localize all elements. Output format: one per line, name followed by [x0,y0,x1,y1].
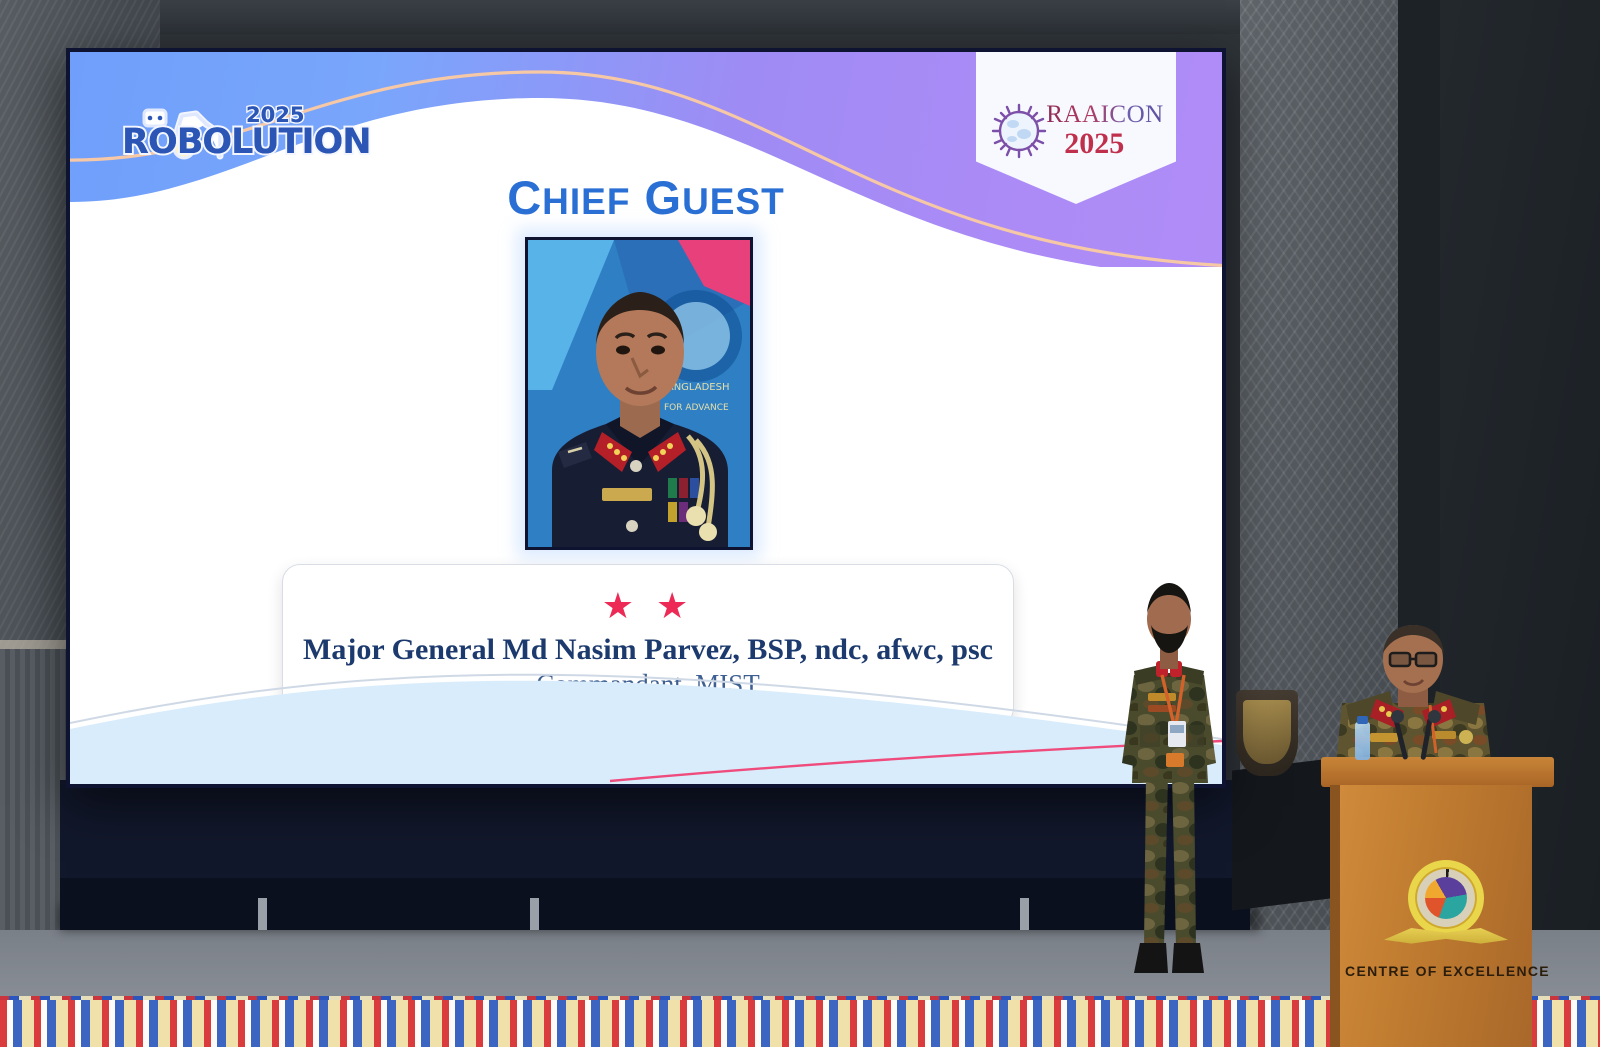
robolution-wordmark: ROBOLUTION [122,122,371,162]
raaicon-year: 2025 [1064,127,1124,160]
officer-photo-illustration: BANGLADESH FOR ADVANCE [528,240,750,547]
svg-text:FOR ADVANCE: FOR ADVANCE [664,403,729,413]
stage-skirt-lower [60,878,1250,930]
robolution-logo: ROBOLUTION ROBOLUTION 2025 2025 [122,100,312,168]
presentation-stage-photo: ROBOLUTION ROBOLUTION 2025 2025 [0,0,1600,1047]
podium-label: CENTRE OF EXCELLENCE [1340,963,1555,979]
water-bottle-cap [1357,716,1368,724]
microphone-right-head [1428,710,1441,723]
display-shield-face [1243,700,1291,764]
microphone-left-head [1391,710,1404,723]
slide-canvas: ROBOLUTION ROBOLUTION 2025 2025 [70,52,1222,784]
stage-leg [530,898,539,930]
raaicon-wordmark: RAAICON [1046,102,1163,127]
projection-screen: ROBOLUTION ROBOLUTION 2025 2025 [66,48,1226,788]
podium-front-panel: CENTRE OF EXCELLENCE [1340,785,1532,1047]
podium: CENTRE OF EXCELLENCE [1330,757,1545,1047]
gear-globe-icon [988,100,1050,162]
standing-officer-figure [1104,575,1234,995]
standing-officer [1104,575,1234,995]
page-title: CHIEF GUEST [70,170,1222,225]
centre-of-excellence-crest-icon [1408,860,1484,936]
crest-core [1425,877,1467,919]
title-word-chief-rest: HIEF [542,181,630,222]
title-word-guest-rest: UEST [682,181,785,222]
title-word-chief-cap: C [507,171,542,224]
robolution-year: 2025 [246,103,304,127]
stage-leg [1020,898,1029,930]
rank-stars: ★ ★ [602,588,695,624]
footer-wave-shape [70,649,1222,784]
stage-leg [258,898,267,930]
podium-top-surface [1321,757,1554,787]
water-bottle [1355,722,1370,760]
title-word-guest-cap: G [645,171,683,224]
chief-guest-portrait: BANGLADESH FOR ADVANCE [525,237,753,550]
portrait-image: BANGLADESH FOR ADVANCE [528,240,750,547]
